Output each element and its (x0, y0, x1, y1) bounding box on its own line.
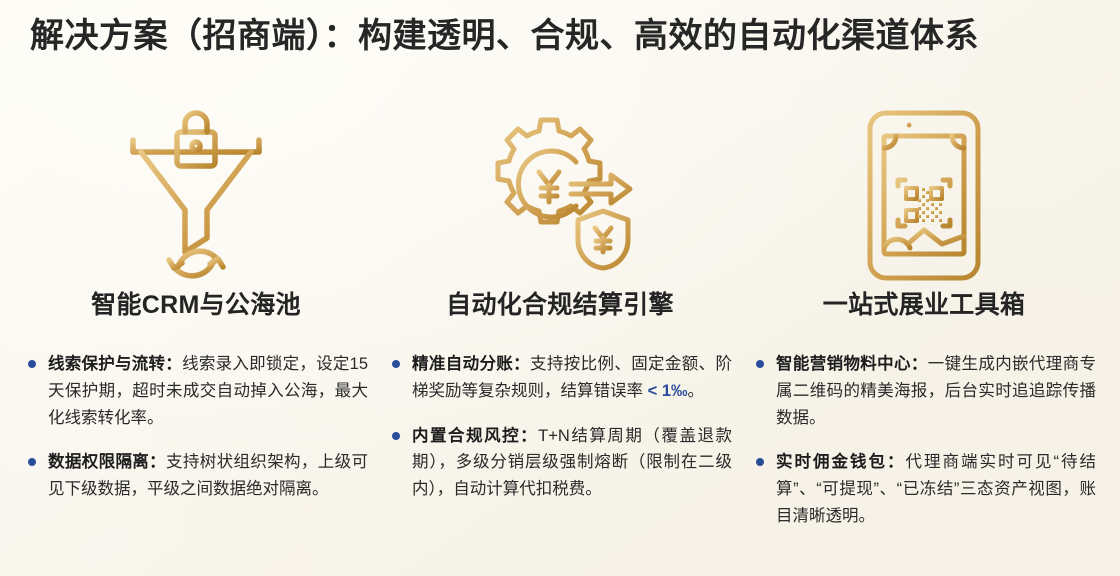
bullet-lead: 精准自动分账： (412, 355, 530, 373)
feature-columns: 智能CRM与公海池 线索保护与流转：线索录入即锁定，设定15天保护期，超时未成交… (0, 100, 1120, 576)
bullet-dot-icon (756, 360, 764, 368)
bullet-dot-icon (392, 432, 400, 440)
column-heading: 自动化合规结算引擎 (446, 290, 674, 321)
list-item: 内置合规风控：T+N结算周期（覆盖退款期），多级分销层级强制熔断（限制在二级内）… (388, 423, 732, 503)
gear-yen-arrow-shield-icon (475, 100, 645, 290)
bullet-accent-value: < 1‰ (648, 382, 688, 400)
list-item: 线索保护与流转：线索录入即锁定，设定15天保护期，超时未成交自动掉入公海，最大化… (24, 351, 368, 431)
bullet-list: 线索保护与流转：线索录入即锁定，设定15天保护期，超时未成交自动掉入公海，最大化… (24, 351, 368, 503)
slide-root: 解决方案（招商端）：构建透明、合规、高效的自动化渠道体系 (0, 0, 1120, 576)
feature-column-settlement: 自动化合规结算引擎 精准自动分账：支持按比例、固定金额、阶梯奖励等复杂规则，结算… (378, 100, 742, 503)
bullet-lead: 线索保护与流转： (48, 355, 182, 373)
bullet-dot-icon (392, 360, 400, 368)
bullet-list: 精准自动分账：支持按比例、固定金额、阶梯奖励等复杂规则，结算错误率 < 1‰。 … (388, 351, 732, 503)
bullet-lead: 数据权限隔离： (48, 453, 166, 471)
bullet-dot-icon (28, 458, 36, 466)
bullet-lead: 实时佣金钱包： (776, 453, 906, 471)
smartphone-qrcode-poster-icon (864, 100, 984, 290)
column-heading: 一站式展业工具箱 (823, 290, 1025, 321)
bullet-dot-icon (756, 458, 764, 466)
list-item: 智能营销物料中心：一键生成内嵌代理商专属二维码的精美海报，后台实时追追踪传播数据… (752, 351, 1096, 431)
bullet-dot-icon (28, 360, 36, 368)
feature-column-toolbox: 一站式展业工具箱 智能营销物料中心：一键生成内嵌代理商专属二维码的精美海报，后台… (742, 100, 1106, 530)
title-container: 解决方案（招商端）：构建透明、合规、高效的自动化渠道体系 (0, 14, 1120, 58)
bullet-lead: 智能营销物料中心： (776, 355, 928, 373)
bullet-list: 智能营销物料中心：一键生成内嵌代理商专属二维码的精美海报，后台实时追追踪传播数据… (752, 351, 1096, 529)
bullet-lead: 内置合规风控： (412, 427, 538, 445)
list-item: 精准自动分账：支持按比例、固定金额、阶梯奖励等复杂规则，结算错误率 < 1‰。 (388, 351, 732, 404)
page-title: 解决方案（招商端）：构建透明、合规、高效的自动化渠道体系 (30, 14, 1090, 58)
list-item: 数据权限隔离：支持树状组织架构，上级可见下级数据，平级之间数据绝对隔离。 (24, 449, 368, 502)
feature-column-crm: 智能CRM与公海池 线索保护与流转：线索录入即锁定，设定15天保护期，超时未成交… (14, 100, 378, 503)
bullet-tail: 。 (688, 382, 705, 400)
column-heading: 智能CRM与公海池 (91, 290, 301, 321)
funnel-lock-recycle-icon (121, 100, 271, 290)
list-item: 实时佣金钱包：代理商端实时可见“待结算”、“可提现”、“已冻结”三态资产视图，账… (752, 449, 1096, 529)
